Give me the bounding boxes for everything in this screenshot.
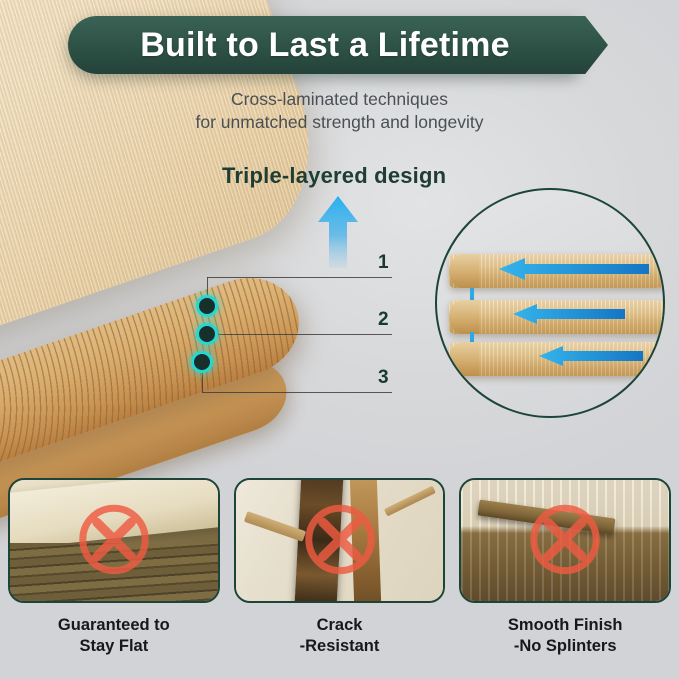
infographic-root: SIC Built to Last a Lifetime Cross-lamin… [0, 0, 679, 679]
layer-number-2: 2 [378, 309, 389, 331]
layer-dot-1 [196, 295, 218, 317]
panel-label-line-2: Stay Flat [8, 636, 220, 657]
subtitle: Cross-laminated techniques for unmatched… [0, 88, 679, 134]
panel-label-stay-flat: Guaranteed to Stay Flat [8, 615, 220, 657]
layer-number-3: 3 [378, 367, 389, 389]
benefit-panel-stay-flat: Guaranteed to Stay Flat [8, 478, 220, 657]
arrow-left-icon [539, 346, 643, 366]
cracked-wood-photo [234, 478, 446, 603]
leader-line-1 [207, 277, 392, 278]
no-circle-x-icon [75, 500, 153, 578]
leader-line-3 [202, 392, 392, 393]
benefit-panels: Guaranteed to Stay Flat Crack -Resistant [8, 478, 671, 657]
arrow-left-icon [513, 304, 625, 324]
layer-dot-2 [196, 323, 218, 345]
subtitle-line-2: for unmatched strength and longevity [0, 111, 679, 134]
inset-layer-2-end [449, 300, 479, 334]
arrow-left-icon [499, 258, 649, 280]
panel-label-smooth-finish: Smooth Finish -No Splinters [459, 615, 671, 657]
up-arrow-icon [316, 196, 360, 268]
panel-label-line-2: -Resistant [234, 636, 446, 657]
layer-dot-3 [191, 351, 213, 373]
benefit-panel-crack-resistant: Crack -Resistant [234, 478, 446, 657]
subtitle-line-1: Cross-laminated techniques [0, 88, 679, 111]
splintered-wood-photo [459, 478, 671, 603]
inset-layer-1-end [449, 254, 479, 288]
panel-label-line-1: Guaranteed to [8, 615, 220, 636]
panel-label-line-1: Crack [234, 615, 446, 636]
layer-detail-inset [435, 188, 665, 418]
inset-layer-3-end [449, 342, 479, 376]
panel-label-line-2: -No Splinters [459, 636, 671, 657]
wood-splinter-piece [244, 511, 306, 542]
no-circle-x-icon [301, 500, 379, 578]
leader-line-2 [215, 334, 392, 335]
page-title: Built to Last a Lifetime [140, 26, 509, 65]
wood-splinter-piece-2 [384, 486, 436, 517]
panel-label-crack-resistant: Crack -Resistant [234, 615, 446, 657]
triple-layered-design-heading: Triple-layered design [222, 163, 446, 189]
panel-label-line-1: Smooth Finish [459, 615, 671, 636]
no-circle-x-icon [526, 500, 604, 578]
layer-number-1: 1 [378, 252, 389, 274]
warped-planks-photo [8, 478, 220, 603]
header-banner: Built to Last a Lifetime [68, 16, 582, 74]
benefit-panel-smooth-finish: Smooth Finish -No Splinters [459, 478, 671, 657]
